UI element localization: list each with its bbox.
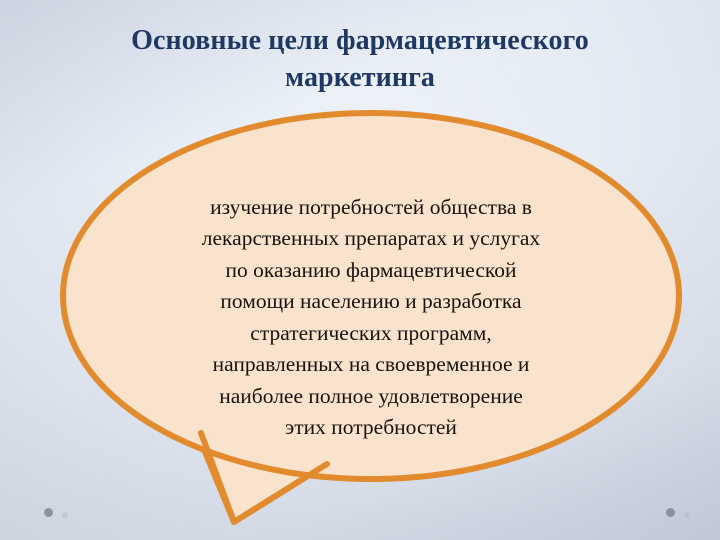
slide-canvas: Основные цели фармацевтического маркетин… [0, 0, 720, 540]
decorative-dot-bottom-right-large [666, 508, 675, 517]
decorative-dot-bottom-left-large [44, 508, 53, 517]
speech-bubble-text: изучение потребностей общества в лекарст… [111, 192, 631, 444]
decorative-dot-bottom-right-small [684, 512, 690, 518]
decorative-dot-bottom-left-small [62, 512, 68, 518]
